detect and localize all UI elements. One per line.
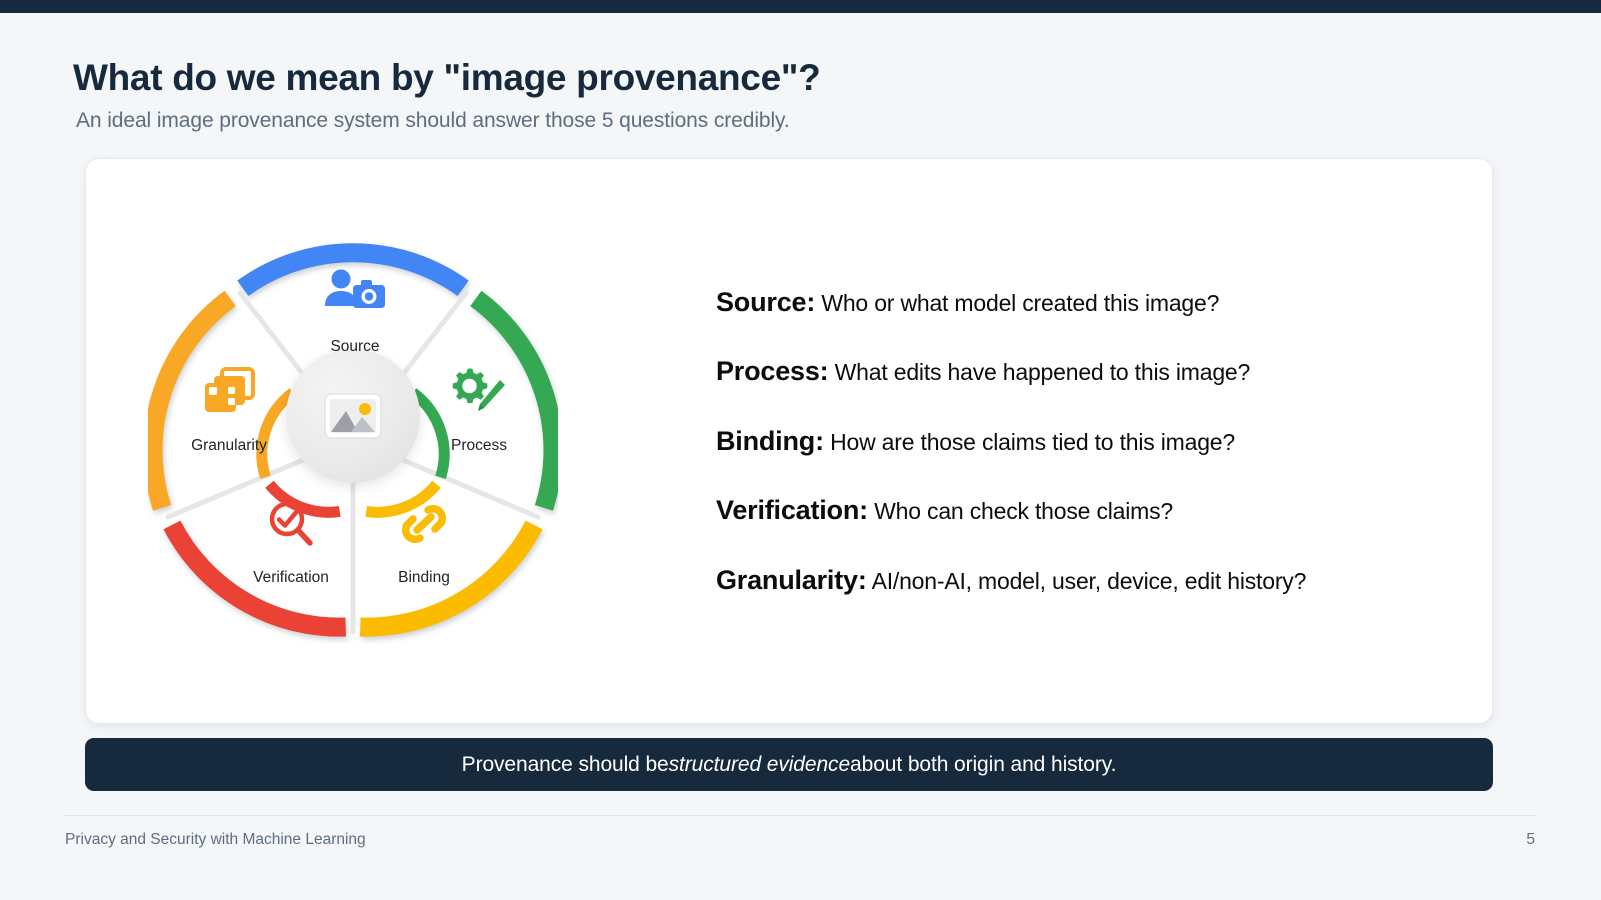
content-card: Source Process Binding [85, 158, 1493, 724]
question-term: Granularity: [716, 565, 867, 595]
chain-link-icon [400, 499, 448, 549]
granularity-icon-wrapper [201, 366, 257, 421]
list-item: Source: Who or what model created this i… [716, 286, 1442, 318]
question-desc: Who can check those claims? [874, 498, 1173, 524]
footer-page-number: 5 [1526, 831, 1535, 849]
slide-header: What do we mean by "image provenance"? A… [73, 56, 1493, 133]
question-desc: AI/non-AI, model, user, device, edit his… [872, 568, 1307, 594]
gear-paintbrush-icon [451, 368, 507, 418]
binding-icon-wrapper [400, 499, 448, 554]
segment-label-granularity: Granularity [191, 437, 267, 455]
provenance-question-list: Source: Who or what model created this i… [626, 286, 1492, 596]
segment-label-verification: Verification [253, 569, 329, 587]
slide-footer: Privacy and Security with Machine Learni… [65, 831, 1535, 849]
question-term: Source: [716, 287, 815, 317]
page-title: What do we mean by "image provenance"? [73, 56, 1493, 100]
takeaway-prefix: Provenance should be [462, 753, 669, 777]
image-placeholder-icon [317, 380, 389, 452]
question-term: Binding: [716, 426, 824, 456]
page-subtitle: An ideal image provenance system should … [76, 109, 1493, 133]
question-desc: Who or what model created this image? [821, 290, 1219, 316]
person-camera-icon [324, 268, 386, 314]
list-item: Binding: How are those claims tied to th… [716, 425, 1442, 457]
takeaway-suffix: about both origin and history. [850, 753, 1116, 777]
list-item: Verification: Who can check those claims… [716, 494, 1442, 526]
magnifier-check-icon [266, 499, 316, 549]
question-desc: What edits have happened to this image? [835, 359, 1250, 385]
source-icon-wrapper [324, 268, 386, 319]
process-icon-wrapper [451, 368, 507, 423]
question-term: Verification: [716, 495, 868, 525]
segment-label-binding: Binding [398, 569, 450, 587]
takeaway-emphasis: structured evidence [669, 753, 850, 777]
wheel-center-hub [286, 349, 420, 483]
list-item: Granularity: AI/non-AI, model, user, dev… [716, 564, 1442, 596]
question-desc: How are those claims tied to this image? [830, 429, 1235, 455]
footer-divider [65, 815, 1535, 816]
list-item: Process: What edits have happened to thi… [716, 355, 1442, 387]
takeaway-banner: Provenance should be structured evidence… [85, 738, 1493, 791]
top-accent-bar [0, 0, 1601, 13]
segment-label-process: Process [451, 437, 507, 455]
question-term: Process: [716, 356, 828, 386]
segment-label-source: Source [330, 338, 379, 356]
footer-course-name: Privacy and Security with Machine Learni… [65, 831, 366, 849]
provenance-wheel-diagram: Source Process Binding [126, 206, 626, 676]
stacked-layers-icon [201, 366, 257, 416]
verification-icon-wrapper [266, 499, 316, 554]
